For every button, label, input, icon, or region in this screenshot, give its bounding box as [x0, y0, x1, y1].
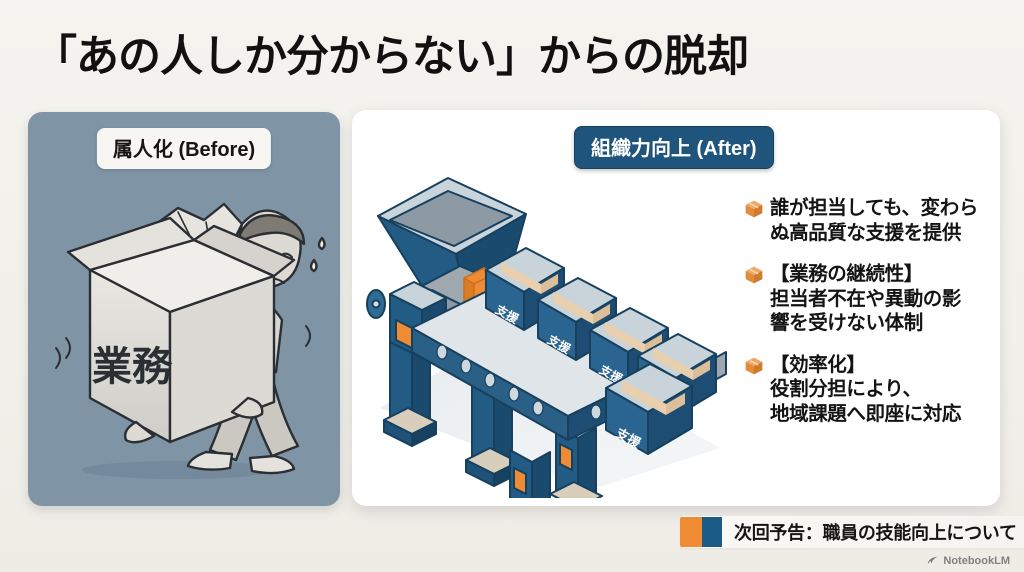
page-title: 「あの人しか分からない」からの脱却 — [34, 22, 748, 84]
next-preview-bar: 次回予告：職員の技能向上について — [680, 516, 1024, 548]
panel-after: 支援 支援 支援 — [352, 110, 1000, 506]
panel-before: 業務 属人化 (Before) — [28, 112, 340, 506]
benefit-bullet-1: 誰が担当しても、変わら ぬ高品質な支援を提供 — [744, 196, 994, 245]
package-icon — [744, 356, 770, 381]
benefit-bullet-2-text: 【業務の継続性】 担当者不在や異動の影 響を受けない体制 — [770, 262, 961, 336]
benefit-bullet-list: 誰が担当しても、変わら ぬ高品質な支援を提供 【業務の継続性】 担当者不在や異動… — [744, 196, 994, 444]
blue-swatch — [702, 517, 722, 547]
orange-swatch — [680, 517, 702, 547]
watermark-label: NotebookLM — [943, 555, 1010, 567]
benefit-bullet-1-text: 誰が担当しても、変わら ぬ高品質な支援を提供 — [770, 196, 978, 245]
notebooklm-watermark: NotebookLM — [926, 554, 1010, 567]
conveyor-belt-illustration: 支援 支援 支援 — [360, 158, 750, 498]
benefit-bullet-2: 【業務の継続性】 担当者不在や異動の影 響を受けない体制 — [744, 262, 994, 336]
stressed-worker-illustration: 業務 — [28, 112, 340, 506]
before-box-label: 業務 — [92, 344, 173, 390]
badge-after: 組織力向上 (After) — [574, 126, 774, 169]
next-preview-text: 次回予告：職員の技能向上について — [734, 519, 1017, 545]
benefit-bullet-3-text: 【効率化】 役割分担により、 地域課題へ即座に対応 — [770, 353, 961, 427]
package-icon — [744, 199, 770, 224]
badge-before: 属人化 (Before) — [97, 128, 271, 169]
package-icon — [744, 265, 770, 290]
benefit-bullet-3: 【効率化】 役割分担により、 地域課題へ即座に対応 — [744, 353, 994, 427]
slide-canvas: 「あの人しか分からない」からの脱却 — [0, 0, 1024, 572]
notebooklm-logo-icon — [926, 554, 939, 567]
